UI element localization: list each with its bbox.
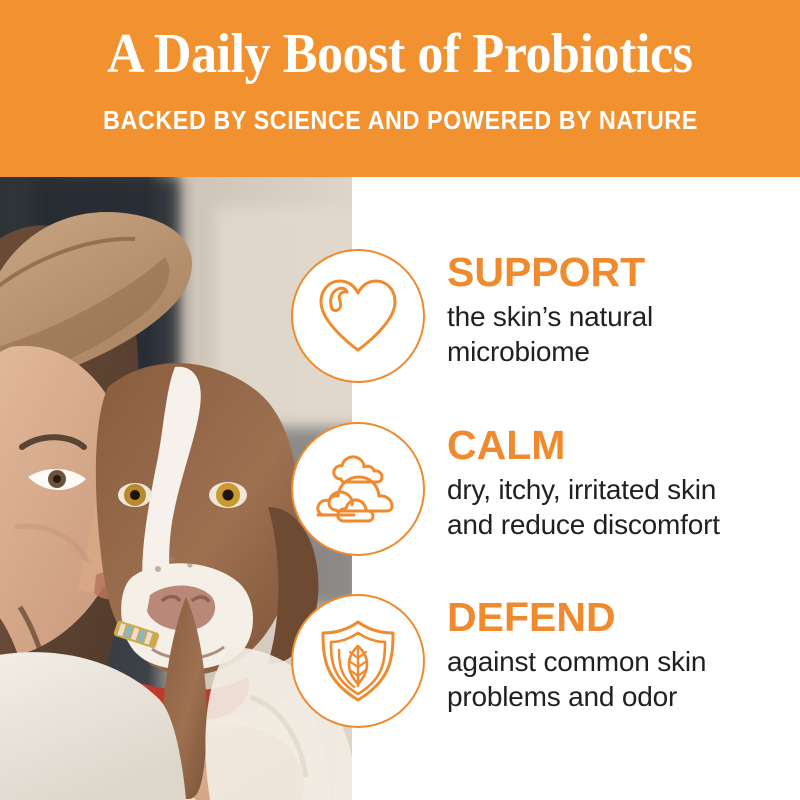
benefit-description-line: dry, itchy, irritated skin: [447, 472, 797, 507]
benefit-heading: SUPPORT: [447, 249, 797, 295]
clouds-icon: [314, 453, 402, 525]
benefit-description-line: the skin’s natural: [447, 299, 797, 334]
benefit-description-line: against common skin: [447, 644, 797, 679]
benefit-description-line: problems and odor: [447, 679, 797, 714]
page-subtitle: BACKED BY SCIENCE AND POWERED BY NATURE: [103, 106, 698, 134]
shield-leaf-icon: [317, 618, 399, 704]
promotional-poster: A Daily Boost of Probiotics BACKED BY SC…: [0, 0, 800, 800]
benefit-text-block: CALM dry, itchy, irritated skin and redu…: [447, 422, 797, 542]
benefit-row-defend: DEFEND against common skin problems and …: [0, 594, 800, 730]
benefit-description-line: and reduce discomfort: [447, 507, 797, 542]
benefit-row-calm: CALM dry, itchy, irritated skin and redu…: [0, 422, 800, 558]
benefit-heading: CALM: [447, 422, 797, 468]
benefit-row-support: SUPPORT the skin’s natural microbiome: [0, 249, 800, 385]
benefit-text-block: SUPPORT the skin’s natural microbiome: [447, 249, 797, 369]
benefit-heading: DEFEND: [447, 594, 797, 640]
page-title: A Daily Boost of Probiotics: [107, 24, 692, 84]
header-banner: A Daily Boost of Probiotics BACKED BY SC…: [0, 0, 800, 177]
benefit-text-block: DEFEND against common skin problems and …: [447, 594, 797, 714]
benefit-icon-badge: [291, 249, 425, 383]
benefit-icon-badge: [291, 594, 425, 728]
benefit-description: dry, itchy, irritated skin and reduce di…: [447, 472, 797, 542]
benefit-description-line: microbiome: [447, 334, 797, 369]
benefit-description: against common skin problems and odor: [447, 644, 797, 714]
benefit-description: the skin’s natural microbiome: [447, 299, 797, 369]
benefit-icon-badge: [291, 422, 425, 556]
heart-icon: [315, 276, 401, 356]
